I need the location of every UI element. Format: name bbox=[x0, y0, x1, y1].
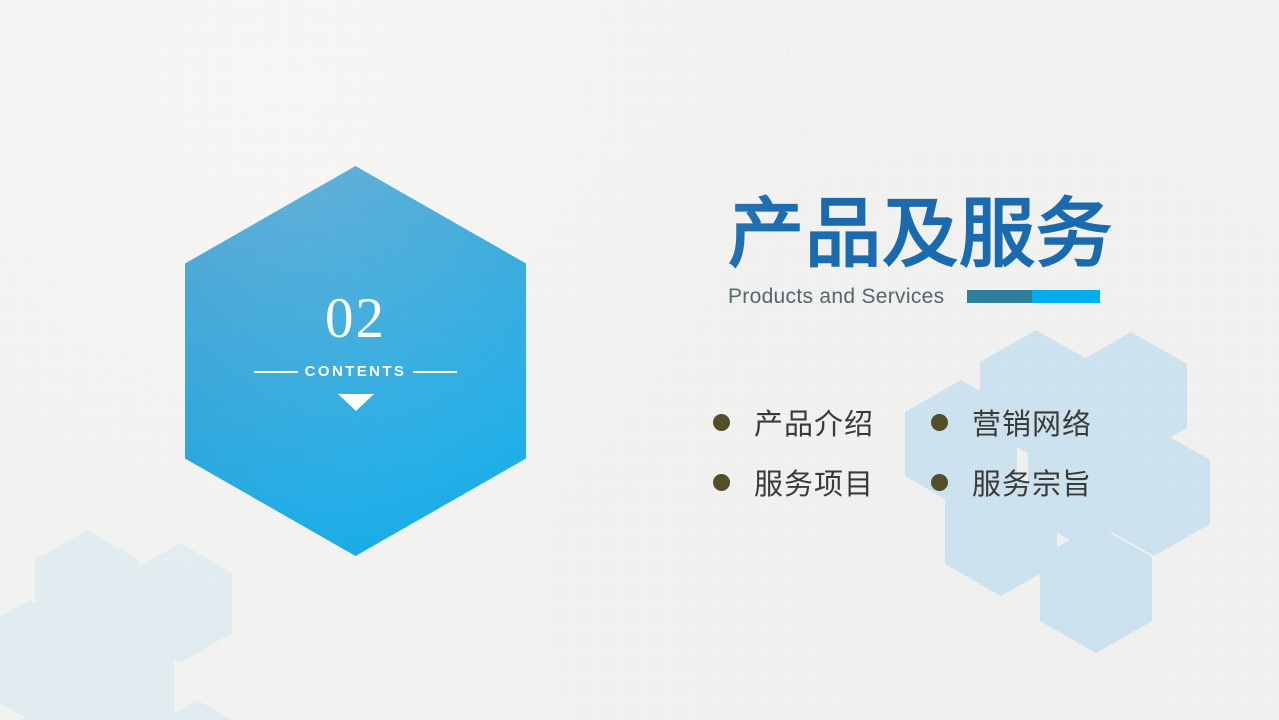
list-item[interactable]: 产品介绍 bbox=[713, 392, 931, 452]
list-item-label: 营销网络 bbox=[972, 401, 1092, 443]
section-number: 02 bbox=[325, 290, 386, 347]
bullet-dot-icon bbox=[931, 414, 948, 431]
list-item[interactable]: 服务宗旨 bbox=[931, 452, 1149, 512]
rule-left bbox=[254, 371, 298, 373]
presentation-slide: 02 CONTENTS 产品及服务 Products and Services … bbox=[0, 0, 1279, 720]
subtitle-row: Products and Services bbox=[728, 286, 1148, 308]
accent-bar-segment-right bbox=[1032, 290, 1100, 303]
contents-label-row: CONTENTS bbox=[185, 363, 526, 380]
page-subtitle: Products and Services bbox=[728, 285, 944, 309]
bullet-dot-icon bbox=[713, 414, 730, 431]
accent-bar-segment-left bbox=[967, 290, 1032, 303]
contents-label: CONTENTS bbox=[298, 363, 414, 380]
section-number-badge: 02 CONTENTS bbox=[185, 166, 526, 556]
triangle-down-icon bbox=[338, 394, 374, 411]
list-item-label: 服务项目 bbox=[754, 461, 874, 503]
bullet-dot-icon bbox=[713, 474, 730, 491]
list-item-label: 产品介绍 bbox=[754, 401, 874, 443]
list-item[interactable]: 服务项目 bbox=[713, 452, 931, 512]
page-title: 产品及服务 bbox=[728, 196, 1148, 274]
list-item-label: 服务宗旨 bbox=[972, 461, 1092, 503]
section-badge-content: 02 CONTENTS bbox=[185, 166, 526, 556]
bullet-dot-icon bbox=[931, 474, 948, 491]
heading-block: 产品及服务 Products and Services bbox=[728, 196, 1148, 308]
list-item[interactable]: 营销网络 bbox=[931, 392, 1149, 452]
accent-bar bbox=[967, 290, 1100, 303]
agenda-list: 产品介绍 营销网络 服务项目 服务宗旨 bbox=[713, 392, 1149, 512]
rule-right bbox=[413, 371, 457, 373]
